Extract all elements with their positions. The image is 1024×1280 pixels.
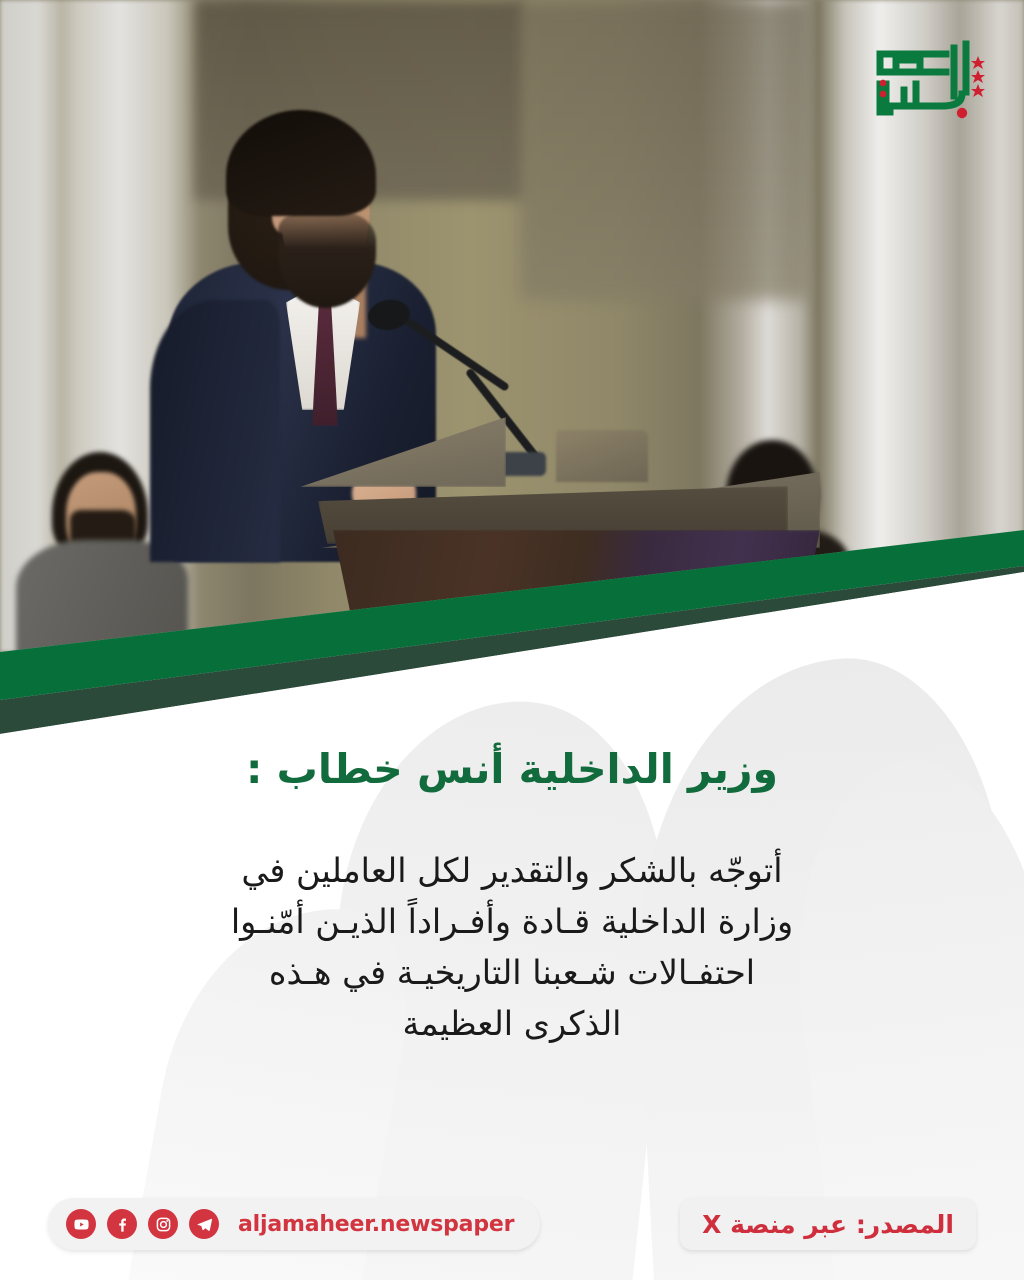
quote-line-1: أتوجّه بالشكر والتقدير لكل العاملين في	[60, 846, 964, 897]
photo-wall-panel-2	[520, 0, 810, 300]
quote-line-3: احتفـالات شـعبنا التاريخيـة في هـذه	[60, 948, 964, 999]
telegram-icon[interactable]	[189, 1209, 219, 1239]
quote-line-2: وزارة الداخلية قـادة وأفـراداً الذيـن أم…	[60, 897, 964, 948]
youtube-icon[interactable]	[66, 1209, 96, 1239]
aljamaheer-logo[interactable]	[850, 34, 990, 130]
facebook-icon[interactable]	[107, 1209, 137, 1239]
podium-riser-box	[556, 430, 648, 482]
instagram-icon[interactable]	[148, 1209, 178, 1239]
status-badge: المصدر: عبر منصة X	[680, 1198, 976, 1250]
speaker-shoulder	[150, 300, 280, 562]
source-text: المصدر: عبر منصة X	[702, 1210, 954, 1239]
page-title: وزير الداخلية أنس خطاب :	[58, 744, 966, 795]
quote-line-4: الذكرى العظيمة	[60, 999, 964, 1050]
social-handle-pill[interactable]: aljamaheer.newspaper	[48, 1198, 540, 1250]
social-handle-text: aljamaheer.newspaper	[238, 1212, 514, 1237]
news-card: وزير الداخلية أنس خطاب : أتوجّه بالشكر و…	[0, 0, 1024, 1280]
quote-body: أتوجّه بالشكر والتقدير لكل العاملين في و…	[60, 846, 964, 1050]
